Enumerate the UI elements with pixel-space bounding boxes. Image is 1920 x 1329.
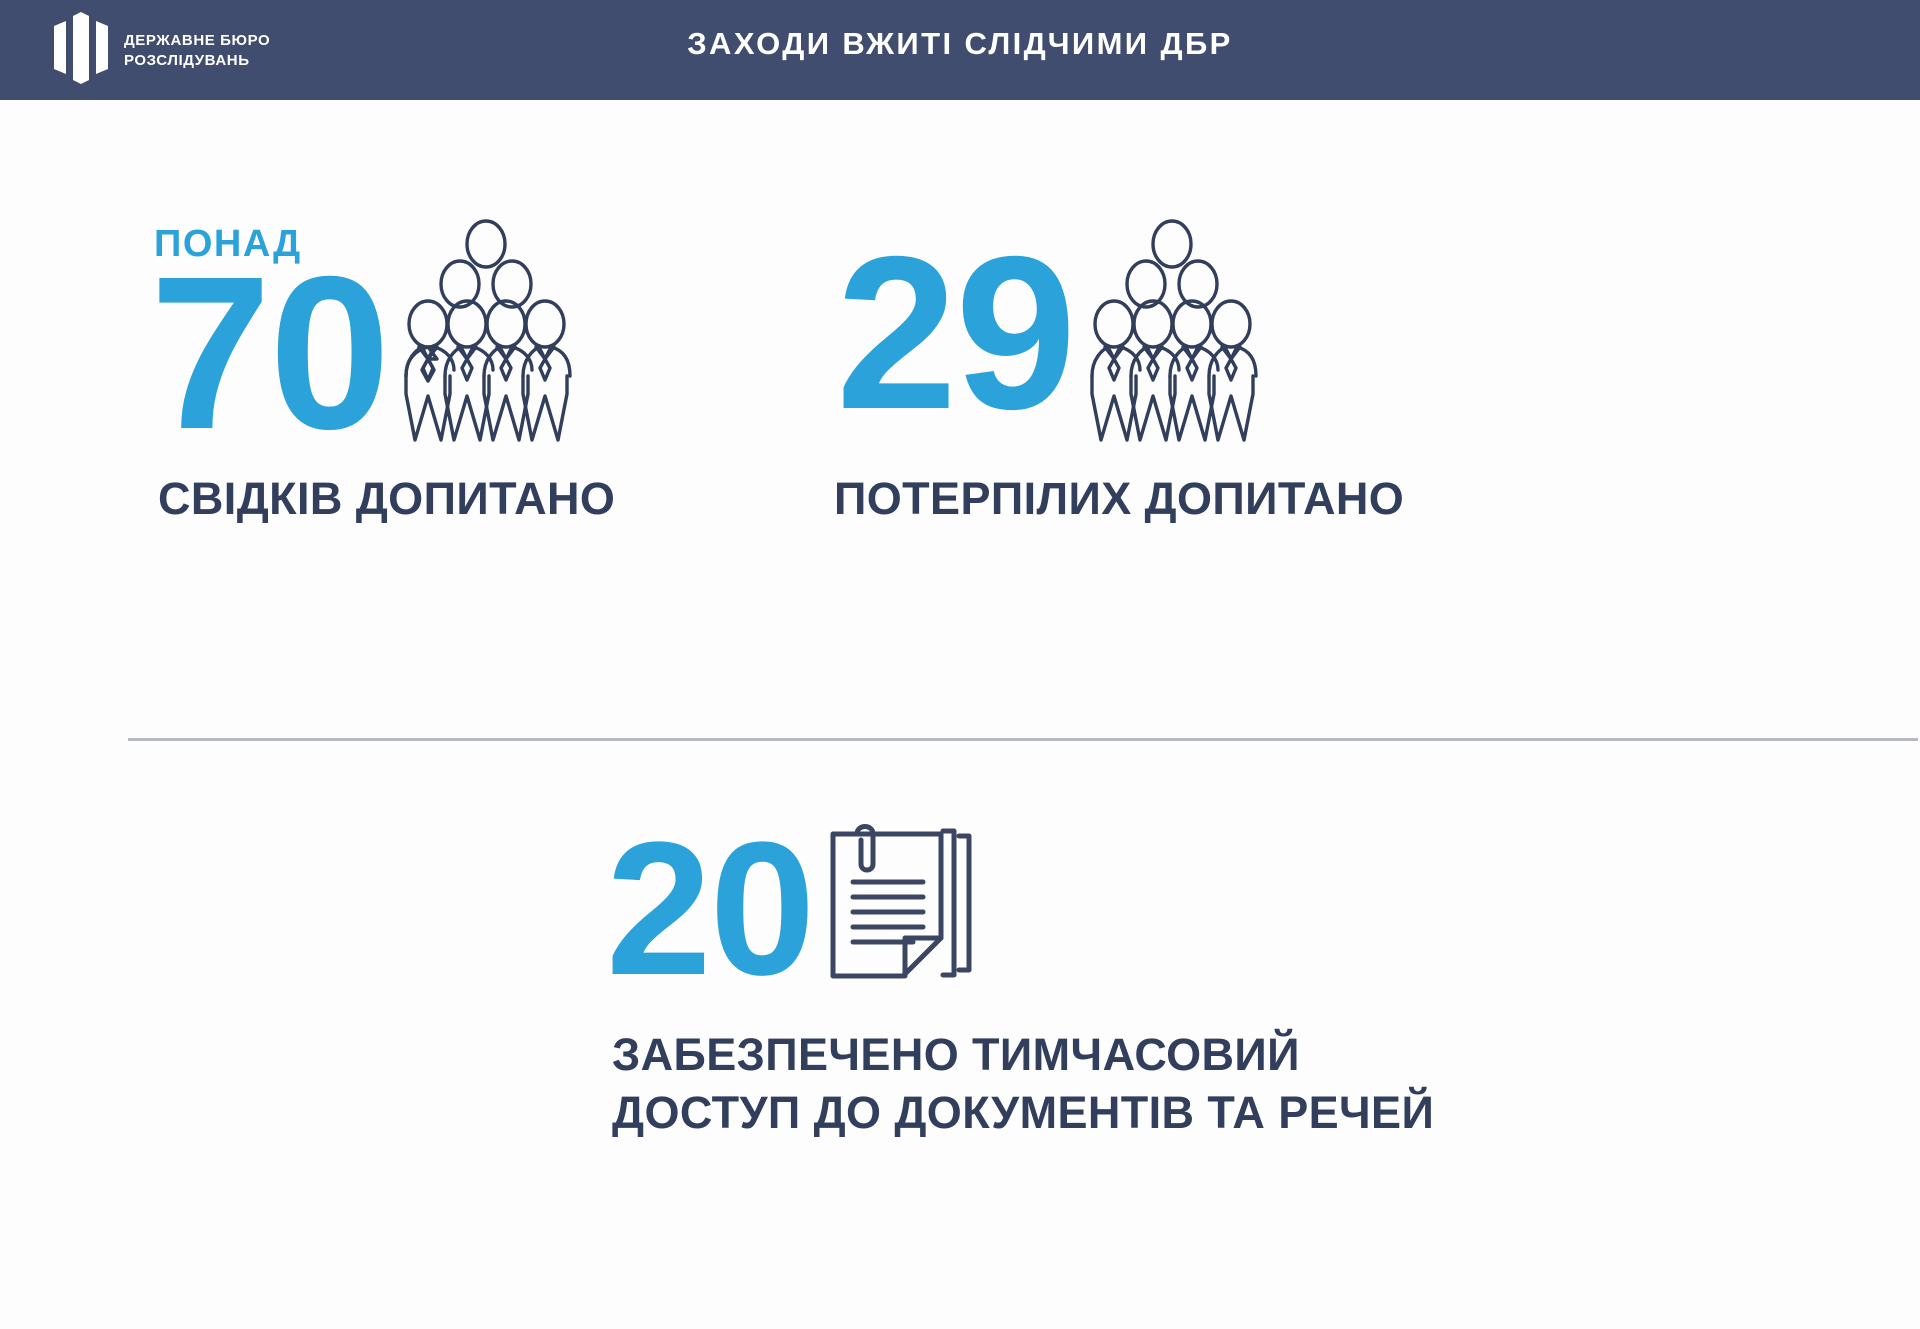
stat-block-documents: 20 xyxy=(606,820,1434,1141)
page-header: ДЕРЖАВНЕ БЮРО РОЗСЛІДУВАНЬ ЗАХОДИ ВЖИТІ … xyxy=(0,0,1920,100)
stat-value: 20 xyxy=(606,832,813,988)
stat-caption-line-2: ДОСТУП ДО ДОКУМЕНТІВ ТА РЕЧЕЙ xyxy=(612,1084,1434,1142)
stat-row: 29 xyxy=(830,218,1404,450)
stat-value: 29 xyxy=(836,245,1074,424)
section-divider xyxy=(128,738,1918,741)
stat-number-column: ПОНАД 70 xyxy=(150,225,388,444)
stat-caption: ЗАБЕЗПЕЧЕНО ТИМЧАСОВИЙ ДОСТУП ДО ДОКУМЕН… xyxy=(612,1026,1434,1141)
group-of-people-icon xyxy=(398,218,574,450)
stat-number-column: 29 xyxy=(830,245,1074,424)
stat-number-column: 20 xyxy=(606,832,813,988)
group-of-people-icon xyxy=(1084,218,1260,450)
stat-row: 20 xyxy=(606,820,1434,1000)
documents-with-paperclip-icon xyxy=(823,820,993,1000)
stat-caption: СВІДКІВ ДОПИТАНО xyxy=(158,472,615,525)
stat-caption: ПОТЕРПІЛИХ ДОПИТАНО xyxy=(834,472,1404,525)
infographic-canvas: ПОНАД 70 xyxy=(0,100,1920,1329)
stat-row: ПОНАД 70 xyxy=(150,218,615,450)
stat-caption-line-1: ЗАБЕЗПЕЧЕНО ТИМЧАСОВИЙ xyxy=(612,1026,1434,1084)
stat-block-witnesses: ПОНАД 70 xyxy=(150,218,615,525)
page-title: ЗАХОДИ ВЖИТІ СЛІДЧИМИ ДБР xyxy=(0,26,1920,62)
stat-block-victims: 29 xyxy=(830,218,1404,525)
stat-value: 70 xyxy=(150,265,388,444)
